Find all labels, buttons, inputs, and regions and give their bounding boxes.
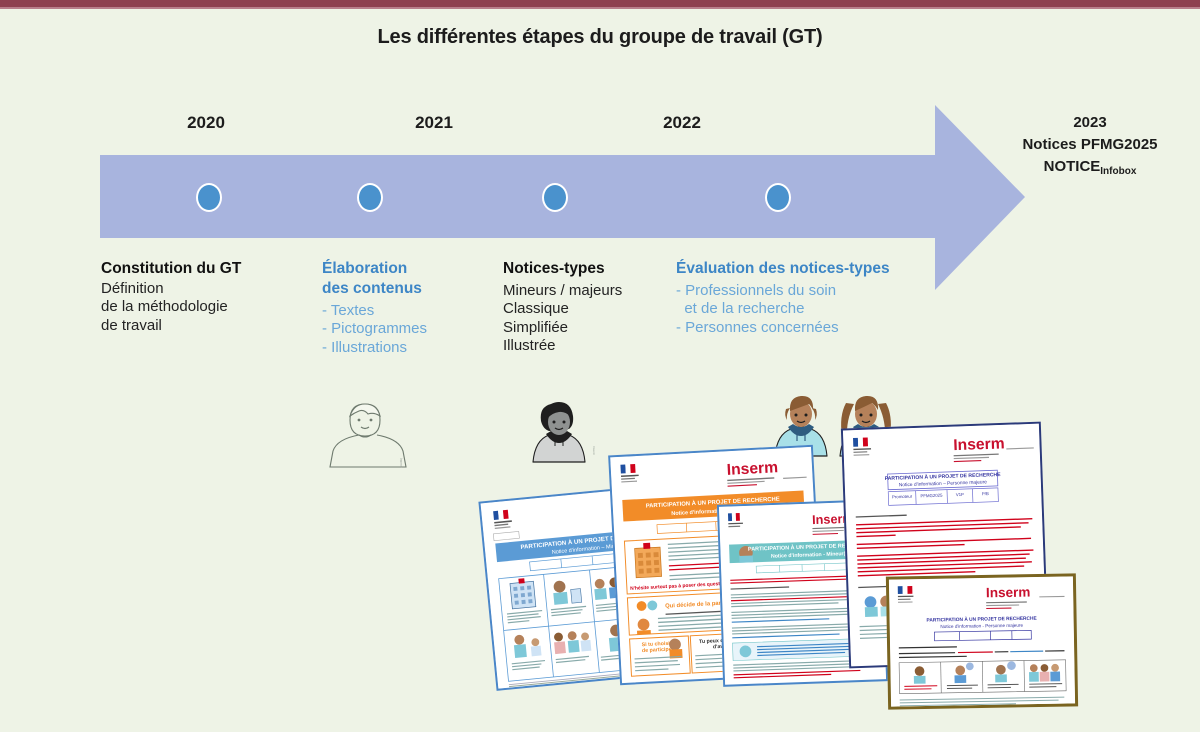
column-1-line-1: Définition	[101, 280, 316, 299]
end-line-3: NOTICEInfobox	[980, 156, 1200, 178]
column-2-line-1: - Textes	[322, 302, 497, 321]
milestone-dot-2020[interactable]	[196, 183, 222, 212]
document-notice-infobox[interactable]: Inserm PARTICIPATION À UN PROJET DE RECH…	[886, 573, 1078, 709]
column-3-line-4: Illustrée	[503, 337, 678, 356]
svg-text:PFMG2025: PFMG2025	[920, 493, 943, 499]
column-1-line-2: de la méthodologie	[101, 298, 316, 317]
column-2-heading-2: des contenus	[322, 280, 497, 299]
column-4-line-2: et de la recherche	[676, 300, 946, 319]
column-1-line-3: de travail	[101, 317, 316, 336]
year-label-2020: 2020	[146, 113, 266, 133]
column-2-line-3: - Illustrations	[322, 339, 497, 358]
page-title: Les différentes étapes du groupe de trav…	[0, 26, 1200, 49]
figure-grey-hoodie-person: Inserm	[519, 398, 599, 479]
column-4-heading: Évaluation des notices-types	[676, 260, 946, 279]
svg-text:V1P: V1P	[956, 492, 964, 497]
svg-text:Promoteur: Promoteur	[892, 494, 913, 500]
column-4-line-1: - Professionnels du soin	[676, 282, 946, 301]
column-1-heading: Constitution du GT	[101, 260, 316, 279]
svg-text:P/B: P/B	[982, 491, 989, 496]
column-3-heading: Notices-types	[503, 260, 678, 279]
column-evaluation: Évaluation des notices-types - Professio…	[676, 260, 946, 337]
column-2-line-2: - Pictogrammes	[322, 320, 497, 339]
milestone-dot-2023[interactable]	[765, 183, 791, 212]
year-label-2022: 2022	[622, 113, 742, 133]
top-accent-bar-highlight	[0, 7, 1200, 9]
figure-line-drawing-person: Inserm	[322, 398, 408, 475]
column-2-heading: Élaboration	[322, 260, 497, 279]
column-constitution: Constitution du GT Définition de la méth…	[101, 260, 316, 335]
svg-text:Inserm: Inserm	[953, 435, 1005, 454]
end-line-3-main: NOTICE	[1044, 158, 1101, 175]
svg-text:Inserm: Inserm	[592, 446, 596, 456]
svg-text:Inserm: Inserm	[986, 585, 1031, 601]
svg-text:Inserm: Inserm	[399, 458, 403, 468]
end-line-3-sub: Infobox	[1100, 166, 1136, 177]
document-5-content: Inserm PARTICIPATION À UN PROJET DE RECH…	[889, 576, 1075, 708]
end-year: 2023	[980, 112, 1200, 134]
end-line-2: Notices PFMG2025	[980, 134, 1200, 156]
column-elaboration: Élaboration des contenus - Textes - Pict…	[322, 260, 497, 357]
svg-text:Inserm: Inserm	[726, 459, 778, 479]
year-label-2021: 2021	[374, 113, 494, 133]
timeline-end-label: 2023 Notices PFMG2025 NOTICEInfobox	[980, 112, 1200, 177]
milestone-dot-2022[interactable]	[542, 183, 568, 212]
column-notices-types: Notices-types Mineurs / majeurs Classiqu…	[503, 260, 678, 356]
column-3-line-2: Classique	[503, 300, 678, 319]
column-3-line-3: Simplifiée	[503, 319, 678, 338]
column-3-line-1: Mineurs / majeurs	[503, 282, 678, 301]
column-4-line-3: - Personnes concernées	[676, 319, 946, 338]
milestone-dot-2021[interactable]	[357, 183, 383, 212]
